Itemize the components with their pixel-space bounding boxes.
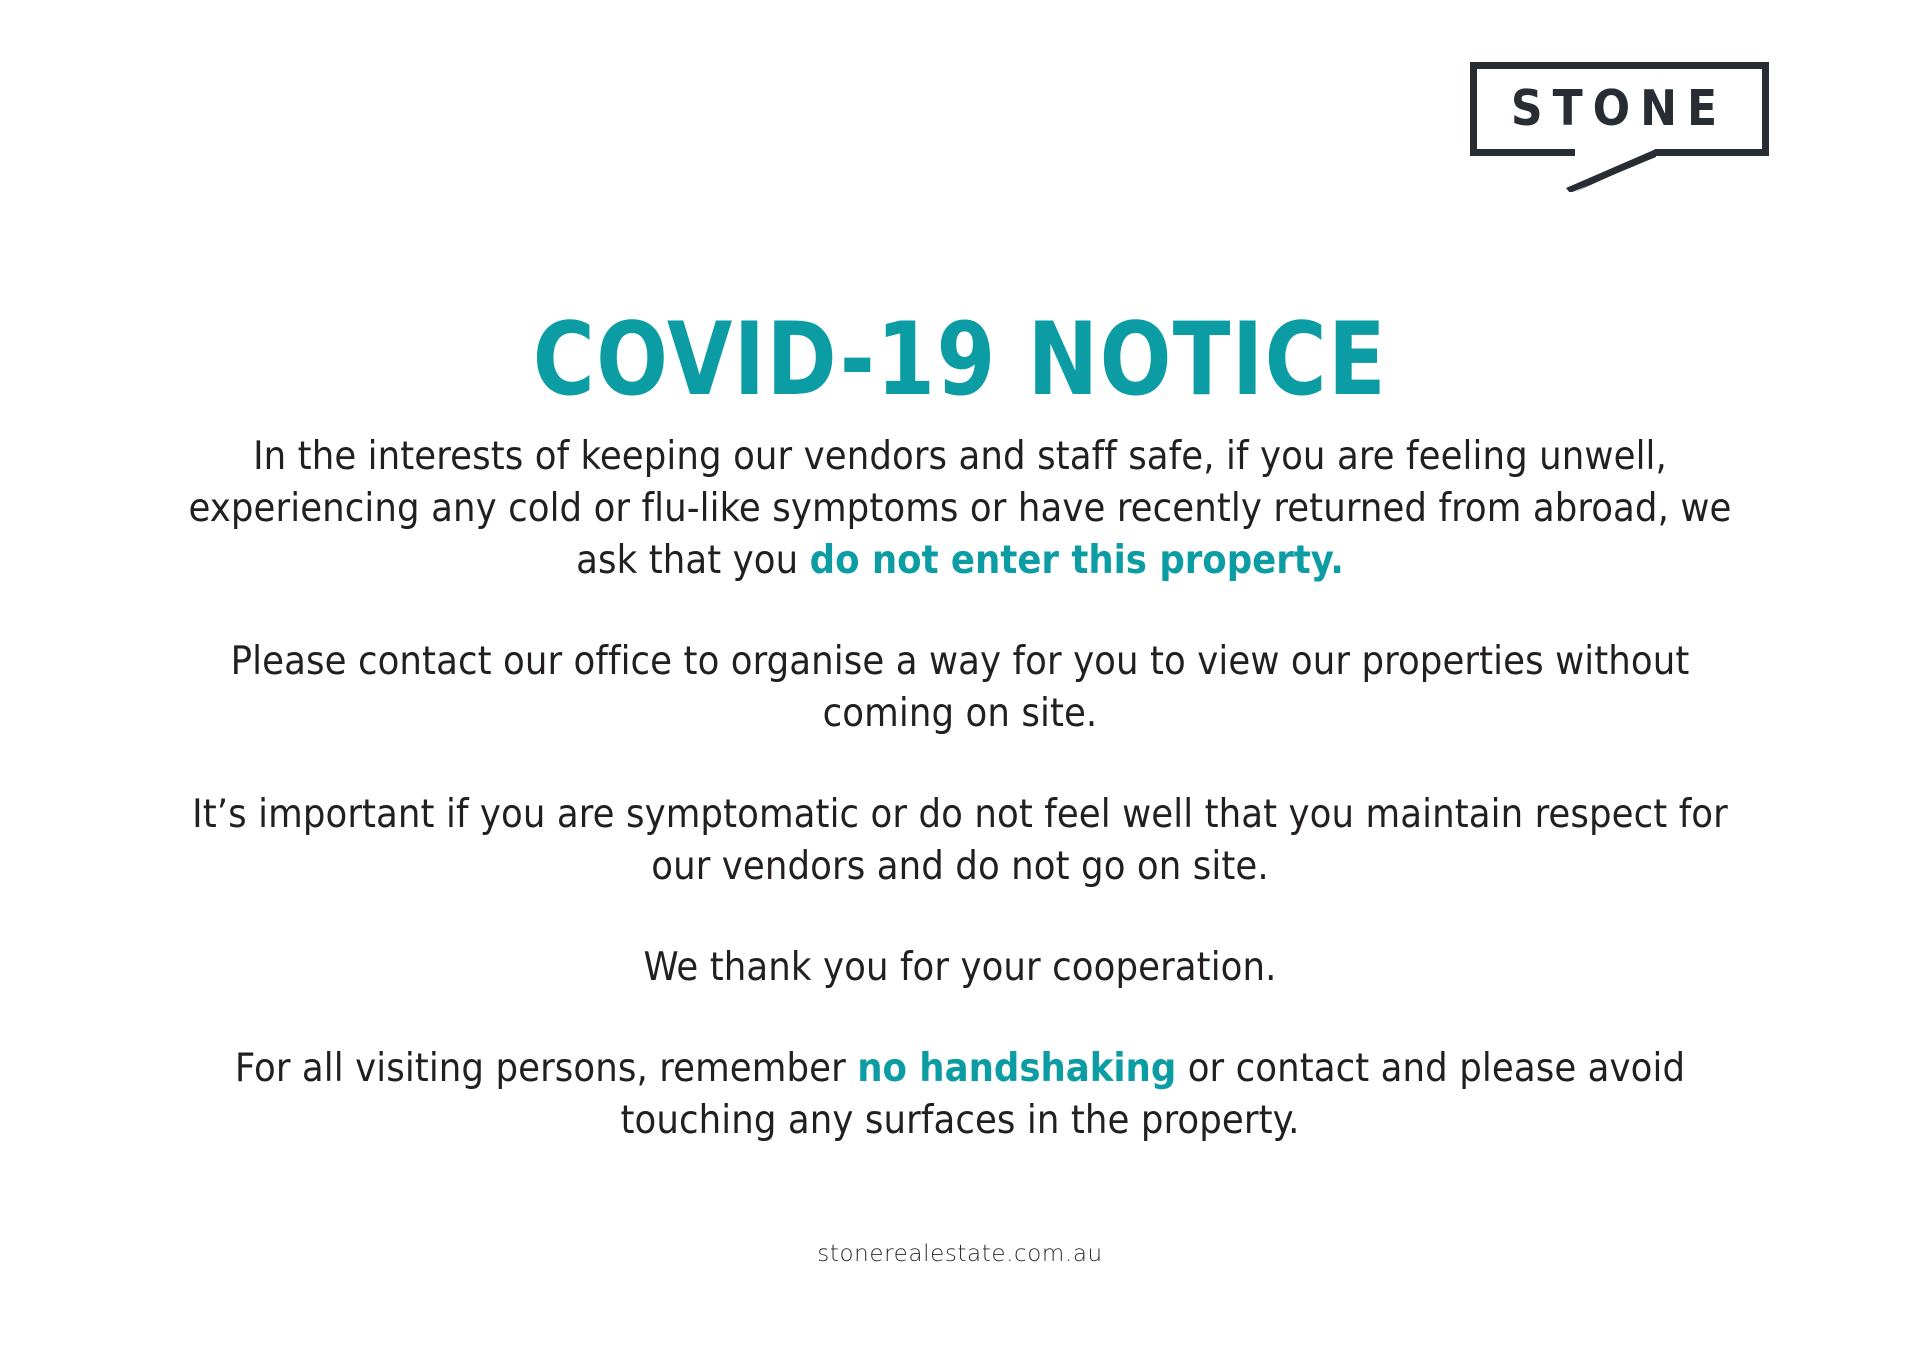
paragraph-3-text: It’s important if you are symptomatic or… <box>192 791 1728 889</box>
paragraph-5-lead-text: For all visiting persons, remember <box>235 1045 857 1091</box>
page-title: COVID-19 NOTICE <box>67 306 1853 412</box>
paragraph-1-emphasis-text: do not enter this property. <box>810 537 1344 583</box>
footer-website-url: stonerealestate.com.au <box>0 1241 1920 1267</box>
paragraph-2-text: Please contact our office to organise a … <box>231 638 1690 736</box>
paragraph-5-emphasis-text: no handshaking <box>857 1045 1176 1091</box>
stone-logo: STONE <box>1470 62 1792 192</box>
paragraph-4-text: We thank you for your cooperation. <box>643 944 1276 990</box>
notice-paragraph-2: Please contact our office to organise a … <box>210 635 1710 739</box>
notice-paragraph-4: We thank you for your cooperation. <box>150 941 1770 993</box>
notice-paragraph-1: In the interests of keeping our vendors … <box>180 430 1740 586</box>
covid-notice-poster: STONE COVID-19 NOTICE In the interests o… <box>0 0 1920 1357</box>
stone-logo-icon: STONE <box>1470 62 1792 192</box>
notice-paragraph-5: For all visiting persons, remember no ha… <box>225 1042 1695 1146</box>
stone-logo-wordmark: STONE <box>1511 80 1727 137</box>
notice-body: In the interests of keeping our vendors … <box>150 430 1770 1146</box>
notice-paragraph-3: It’s important if you are symptomatic or… <box>190 788 1730 892</box>
